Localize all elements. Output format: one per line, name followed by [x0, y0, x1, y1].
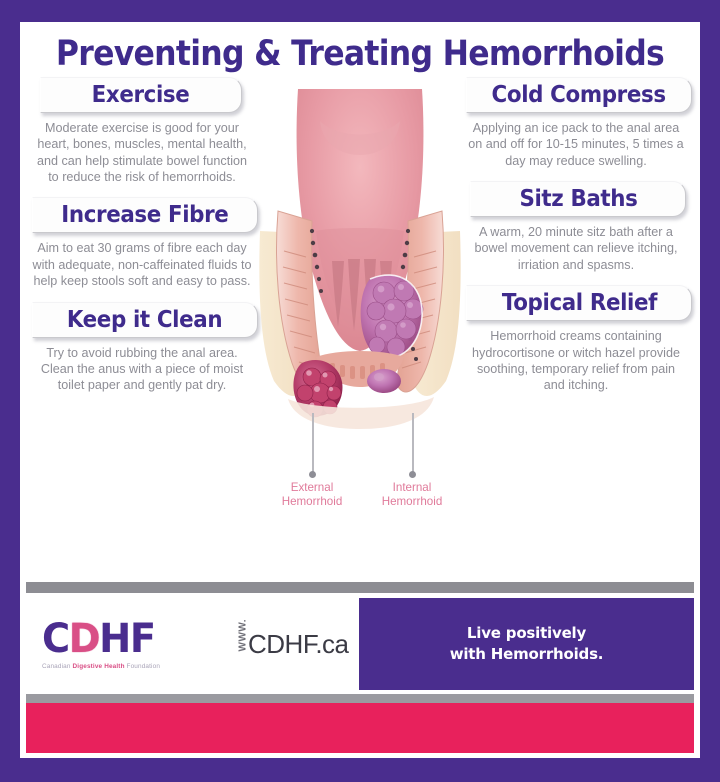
- heading-label-cold-compress: Cold Compress: [492, 82, 666, 108]
- callout-external-line1: External: [260, 481, 364, 495]
- card-topical-relief: Topical Relief Hemorrhoid creams contain…: [460, 285, 692, 394]
- footer-branding: CDHF Canadian Digestive Health Foundatio…: [26, 598, 359, 690]
- footer-tagline: Live positively with Hemorrhoids.: [450, 623, 604, 665]
- cdhf-logo[interactable]: CDHF Canadian Digestive Health Foundatio…: [42, 618, 210, 670]
- heading-label-increase-fibre: Increase Fibre: [61, 202, 228, 228]
- callout-internal-hemorrhoid: Internal Hemorrhoid: [360, 481, 464, 509]
- card-body-sitz-baths: A warm, 20 minute sitz bath after a bowe…: [460, 224, 692, 273]
- leader-line-internal: [412, 413, 414, 473]
- footer: CDHF Canadian Digestive Health Foundatio…: [26, 598, 694, 690]
- callout-external-line2: Hemorrhoid: [260, 495, 364, 509]
- website-url[interactable]: WWW. CDHF.ca: [236, 629, 349, 660]
- footer-divider: [26, 582, 694, 593]
- cdhf-logo-tagline: Canadian Digestive Health Foundation: [42, 663, 210, 670]
- poster-inner-panel: Preventing & Treating Hemorrhoids Exerci…: [20, 22, 700, 758]
- url-domain: CDHF.ca: [248, 629, 349, 660]
- page-title: Preventing & Treating Hemorrhoids: [54, 36, 666, 73]
- bottom-gray-bar: [26, 694, 694, 703]
- logo-tagline-part1: Canadian: [42, 663, 73, 670]
- infographic-poster: Preventing & Treating Hemorrhoids Exerci…: [0, 0, 720, 782]
- illustration-callouts: External Hemorrhoid Internal Hemorrhoid: [252, 413, 468, 493]
- heading-box-exercise: Exercise: [40, 77, 242, 113]
- card-body-increase-fibre: Aim to eat 30 grams of fibre each day wi…: [26, 240, 258, 289]
- right-column: Cold Compress Applying an ice pack to th…: [460, 77, 692, 394]
- heading-box-sitz-baths: Sitz Baths: [470, 181, 686, 217]
- card-exercise: Exercise Moderate exercise is good for y…: [26, 77, 258, 186]
- leader-dot-internal: [409, 471, 416, 478]
- logo-tagline-part3: Foundation: [125, 663, 160, 670]
- callout-internal-line2: Hemorrhoid: [360, 495, 464, 509]
- footer-tagline-line2: with Hemorrhoids.: [450, 644, 604, 665]
- card-increase-fibre: Increase Fibre Aim to eat 30 grams of fi…: [26, 197, 258, 289]
- heading-label-topical-relief: Topical Relief: [501, 290, 656, 316]
- bottom-pink-bar: [26, 703, 694, 753]
- heading-box-increase-fibre: Increase Fibre: [32, 197, 258, 233]
- heading-box-topical-relief: Topical Relief: [466, 285, 692, 321]
- logo-letter-d: D: [69, 616, 99, 662]
- main-content: Exercise Moderate exercise is good for y…: [20, 77, 700, 559]
- card-body-exercise: Moderate exercise is good for your heart…: [26, 120, 258, 186]
- logo-tagline-part2: Digestive Health: [73, 663, 125, 670]
- card-keep-it-clean: Keep it Clean Try to avoid rubbing the a…: [26, 302, 258, 394]
- heading-label-keep-it-clean: Keep it Clean: [67, 307, 222, 333]
- card-cold-compress: Cold Compress Applying an ice pack to th…: [460, 77, 692, 169]
- footer-message-panel: Live positively with Hemorrhoids.: [359, 598, 694, 690]
- card-sitz-baths: Sitz Baths A warm, 20 minute sitz bath a…: [460, 181, 692, 273]
- heading-label-sitz-baths: Sitz Baths: [519, 186, 637, 212]
- heading-box-keep-it-clean: Keep it Clean: [32, 302, 258, 338]
- heading-box-cold-compress: Cold Compress: [466, 77, 692, 113]
- card-body-topical-relief: Hemorrhoid creams containing hydrocortis…: [460, 328, 692, 394]
- title-area: Preventing & Treating Hemorrhoids: [20, 22, 700, 77]
- footer-tagline-line1: Live positively: [450, 623, 604, 644]
- heading-label-exercise: Exercise: [92, 82, 190, 108]
- left-column: Exercise Moderate exercise is good for y…: [26, 77, 258, 394]
- leader-line-external: [312, 413, 314, 473]
- leader-dot-external: [309, 471, 316, 478]
- cdhf-logo-wordmark: CDHF: [42, 618, 203, 660]
- card-body-cold-compress: Applying an ice pack to the anal area on…: [460, 120, 692, 169]
- url-www-prefix: WWW.: [238, 637, 249, 651]
- callout-internal-line1: Internal: [360, 481, 464, 495]
- callout-external-hemorrhoid: External Hemorrhoid: [260, 481, 364, 509]
- card-body-keep-it-clean: Try to avoid rubbing the anal area. Clea…: [26, 345, 258, 394]
- logo-letters-hf: HF: [99, 616, 154, 662]
- logo-letter-c: C: [42, 616, 69, 662]
